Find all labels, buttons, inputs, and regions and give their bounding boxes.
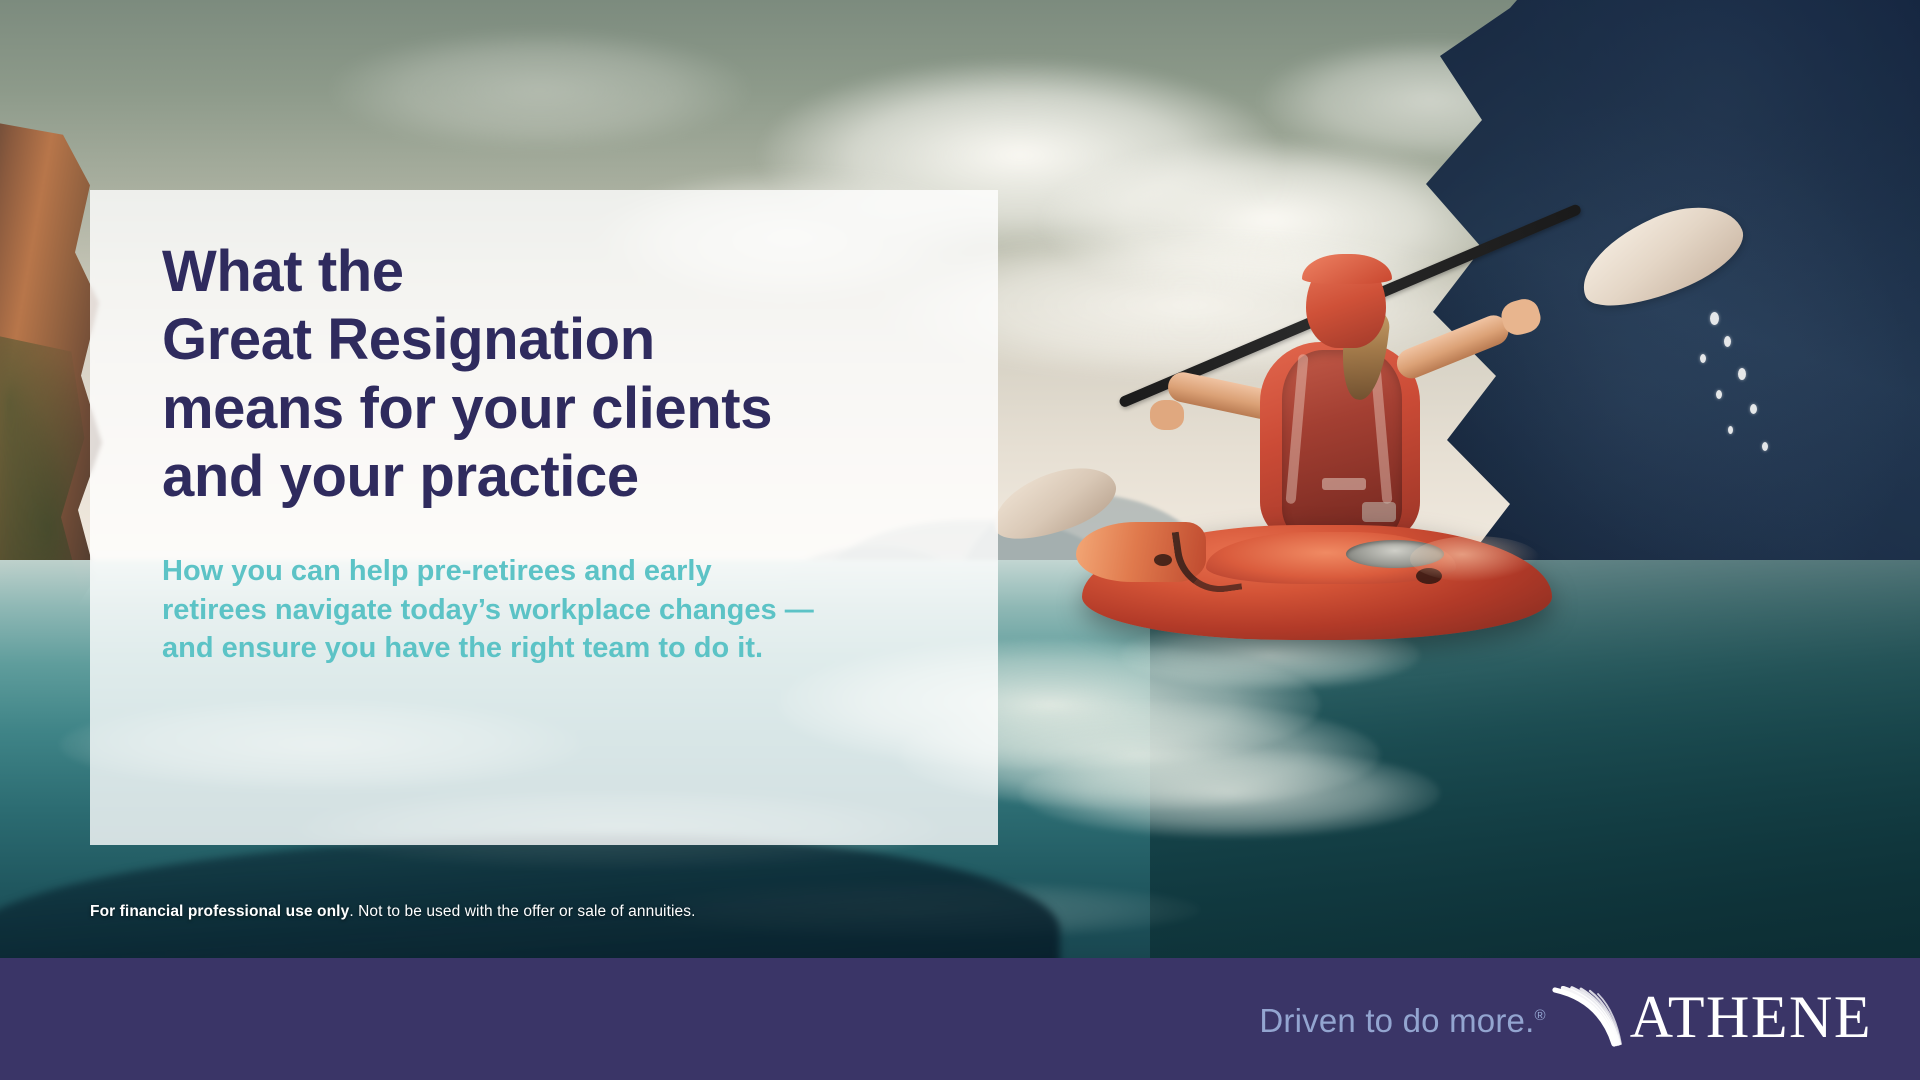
subtitle-line-1: How you can help pre-retirees and early <box>162 552 958 591</box>
paddler-right-arm <box>1392 311 1513 383</box>
kayaker-figure <box>1110 250 1630 670</box>
brand-tagline: Driven to do more.® <box>1259 1002 1545 1040</box>
presentation-slide: What the Great Resignation means for you… <box>0 0 1920 1080</box>
headline-line-1: What the <box>162 238 958 306</box>
backpack-clip <box>1322 478 1366 490</box>
page-subtitle: How you can help pre-retirees and early … <box>162 552 958 669</box>
subtitle-line-2: retirees navigate today’s workplace chan… <box>162 591 958 630</box>
disclaimer-text: For financial professional use only. Not… <box>90 903 696 921</box>
athene-wing-icon <box>1552 986 1624 1052</box>
water-foam <box>1020 748 1440 838</box>
paddler-left-hand <box>1150 400 1184 430</box>
registered-trademark-icon: ® <box>1534 1007 1545 1024</box>
footer-bar: Driven to do more.® ATHENE <box>0 958 1920 1080</box>
page-title: What the Great Resignation means for you… <box>162 238 958 512</box>
cloud-shape <box>330 30 750 150</box>
title-card: What the Great Resignation means for you… <box>90 190 998 845</box>
disclaimer-rest: . Not to be used with the offer or sale … <box>349 903 695 920</box>
kayak-port <box>1154 554 1172 566</box>
title-card-content: What the Great Resignation means for you… <box>162 238 958 668</box>
athene-wordmark: ATHENE <box>1630 983 1872 1052</box>
headline-line-3: means for your clients <box>162 375 958 443</box>
backpack-buckle <box>1362 502 1396 522</box>
headline-line-4: and your practice <box>162 443 958 511</box>
paddler-cap <box>1302 254 1392 284</box>
subtitle-line-3: and ensure you have the right team to do… <box>162 629 958 668</box>
kayak-highlight <box>1410 536 1540 582</box>
tagline-text: Driven to do more. <box>1259 1002 1534 1039</box>
headline-line-2: Great Resignation <box>162 306 958 374</box>
athene-brand-lockup: Driven to do more.® ATHENE <box>1259 985 1920 1054</box>
disclaimer-emphasis: For financial professional use only <box>90 903 349 920</box>
